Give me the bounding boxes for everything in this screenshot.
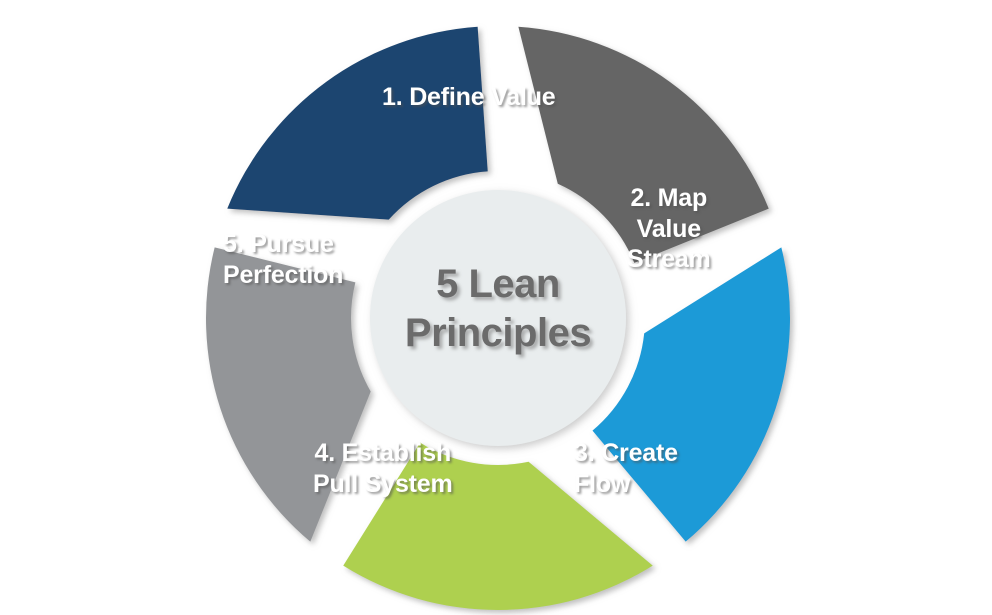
segment-pursue-perfection[interactable] xyxy=(227,27,487,220)
segment-establish-pull-system[interactable] xyxy=(206,247,371,541)
diagram-canvas: 5 Lean Principles 1. Define Value 2. Map… xyxy=(0,0,992,615)
center-disc xyxy=(370,190,626,446)
cycle-wheel xyxy=(0,0,992,615)
segment-create-flow[interactable] xyxy=(343,443,652,610)
